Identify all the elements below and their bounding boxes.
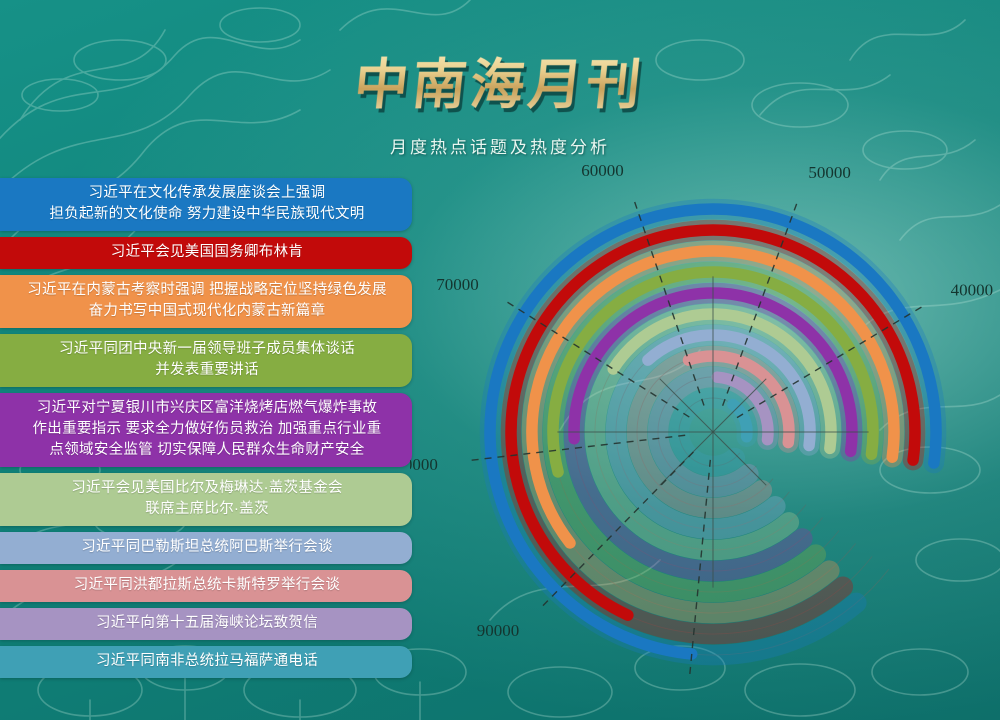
legend-item-label: 习近平同团中央新一届领导班子成员集体谈话 并发表重要讲话	[59, 339, 355, 381]
legend-list: 习近平在文化传承发展座谈会上强调 担负起新的文化使命 努力建设中华民族现代文明习…	[0, 178, 412, 684]
legend-item-3[interactable]: 习近平同团中央新一届领导班子成员集体谈话 并发表重要讲话	[0, 334, 412, 387]
legend-item-label: 习近平对宁夏银川市兴庆区富洋烧烤店燃气爆炸事故 作出重要指示 要求全力做好伤员救…	[32, 398, 381, 461]
tick-label-80000: 80000	[410, 455, 438, 474]
legend-item-label: 习近平会见美国比尔及梅琳达·盖茨基金会 联席主席比尔·盖茨	[71, 478, 343, 520]
legend-item-5[interactable]: 习近平会见美国比尔及梅琳达·盖茨基金会 联席主席比尔·盖茨	[0, 473, 412, 526]
tick-label-40000: 40000	[951, 281, 994, 300]
legend-item-2[interactable]: 习近平在内蒙古考察时强调 把握战略定位坚持绿色发展 奋力书写中国式现代化内蒙古新…	[0, 275, 412, 328]
legend-item-4[interactable]: 习近平对宁夏银川市兴庆区富洋烧烤店燃气爆炸事故 作出重要指示 要求全力做好伤员救…	[0, 393, 412, 467]
tick-label-90000: 90000	[477, 621, 520, 640]
legend-item-label: 习近平会见美国国务卿布林肯	[111, 242, 303, 263]
legend-item-label: 习近平同南非总统拉马福萨通电话	[96, 651, 318, 672]
infographic-canvas: 中南海月刊 月度热点话题及热度分析 习近平在文化传承发展座谈会上强调 担负起新的…	[0, 0, 1000, 720]
tick-label-50000: 50000	[808, 163, 851, 182]
tick-label-60000: 60000	[581, 161, 624, 180]
legend-item-7[interactable]: 习近平同洪都拉斯总统卡斯特罗举行会谈	[0, 570, 412, 602]
legend-item-6[interactable]: 习近平同巴勒斯坦总统阿巴斯举行会谈	[0, 532, 412, 564]
legend-item-8[interactable]: 习近平向第十五届海峡论坛致贺信	[0, 608, 412, 640]
legend-item-0[interactable]: 习近平在文化传承发展座谈会上强调 担负起新的文化使命 努力建设中华民族现代文明	[0, 178, 412, 231]
legend-item-label: 习近平向第十五届海峡论坛致贺信	[96, 613, 318, 634]
legend-item-label: 习近平同洪都拉斯总统卡斯特罗举行会谈	[74, 575, 340, 596]
legend-item-label: 习近平在内蒙古考察时强调 把握战略定位坚持绿色发展 奋力书写中国式现代化内蒙古新…	[27, 280, 387, 322]
legend-item-9[interactable]: 习近平同南非总统拉马福萨通电话	[0, 646, 412, 678]
legend-item-label: 习近平在文化传承发展座谈会上强调 担负起新的文化使命 努力建设中华民族现代文明	[49, 183, 364, 225]
tick-label-100000: 100000	[661, 699, 712, 700]
page-title: 中南海月刊	[351, 40, 649, 119]
legend-item-1[interactable]: 习近平会见美国国务卿布林肯	[0, 237, 412, 269]
tick-label-70000: 70000	[436, 275, 479, 294]
radial-bar-chart: 400005000060000700008000090000100000	[410, 140, 1000, 700]
legend-item-label: 习近平同巴勒斯坦总统阿巴斯举行会谈	[81, 537, 333, 558]
